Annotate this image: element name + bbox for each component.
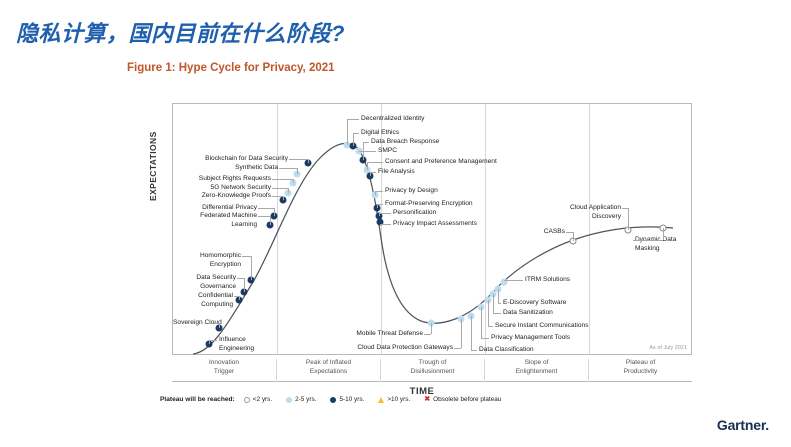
label-connector	[375, 191, 376, 195]
point-label: Cloud ApplicationDiscovery	[173, 204, 621, 221]
point-label-line: Blockchain for Data Security	[173, 155, 288, 164]
point-label-line: Data Classification	[479, 346, 534, 355]
label-connector	[347, 119, 348, 145]
point-label-line: Synthetic Data	[173, 164, 278, 173]
point-label-line: Confidential	[173, 292, 233, 301]
phase-axis: InnovationTriggerPeak of InflatedExpecta…	[172, 356, 692, 382]
point-label-line: Sovereign Cloud	[173, 319, 213, 328]
label-connector	[289, 159, 308, 160]
label-connector	[283, 196, 284, 200]
point-label-line: Masking	[635, 245, 676, 254]
y-axis-label: EXPECTATIONS	[148, 131, 158, 201]
point-label-line: Encryption	[173, 261, 241, 270]
legend-title: Plateau will be reached:	[160, 396, 235, 403]
label-connector	[347, 119, 359, 120]
label-connector	[481, 307, 482, 338]
phase-line1: Peak of Inflated	[277, 359, 380, 368]
label-connector	[424, 334, 431, 335]
point-label: Subject Rights Requests	[173, 175, 271, 184]
label-connector	[498, 289, 499, 303]
label-connector	[504, 280, 523, 281]
label-connector	[566, 232, 573, 233]
label-connector	[293, 179, 294, 183]
label-connector	[237, 278, 244, 279]
label-connector	[493, 313, 501, 314]
dark-circle-icon	[330, 397, 336, 403]
point-label: Synthetic Data	[173, 164, 278, 173]
phase-line1: Innovation	[172, 359, 276, 368]
point-label: Data Breach Response	[371, 138, 439, 147]
point-label: File Analysis	[378, 168, 415, 177]
label-connector	[454, 348, 461, 349]
point-label-line: Computing	[173, 301, 233, 310]
phase-line2: Trigger	[172, 368, 276, 377]
point-label-line: CASBs	[173, 228, 565, 237]
phase-label-0: InnovationTrigger	[172, 359, 276, 382]
label-connector	[272, 196, 283, 197]
point-label: ITRM Solutions	[525, 276, 570, 285]
legend-label: <2 yrs.	[253, 396, 272, 403]
label-connector	[244, 278, 245, 292]
label-connector	[461, 319, 462, 348]
hype-cycle-chart: EXPECTATIONS InfluenceEngineeringSoverei…	[152, 103, 692, 413]
label-connector	[471, 316, 472, 350]
point-label-line: E-Discovery Software	[503, 299, 566, 308]
phase-line1: Plateau of	[589, 359, 692, 368]
point-label-line: Cloud Data Protection Gateways	[173, 344, 453, 353]
point-label: Decentralized Identity	[361, 115, 424, 124]
light-circle-icon	[286, 397, 292, 403]
point-label-line: File Analysis	[378, 168, 415, 177]
legend-label: Obsolete before plateau	[433, 396, 501, 403]
legend-item-2-5: 2-5 yrs.	[286, 396, 316, 403]
label-connector	[272, 179, 293, 180]
label-connector	[363, 142, 364, 160]
legend: Plateau will be reached: <2 yrs. 2-5 yrs…	[160, 396, 510, 403]
point-label-line: Data Sanitization	[503, 309, 553, 318]
point-label: Privacy Management Tools	[491, 334, 570, 343]
label-connector	[308, 159, 309, 163]
point-label-line: Discovery	[173, 213, 621, 222]
point-label-line: Digital Ethics	[361, 129, 399, 138]
label-connector	[370, 172, 371, 176]
plot-area: InfluenceEngineeringSovereign CloudConfi…	[172, 103, 692, 355]
point-label-line: Privacy Management Tools	[491, 334, 570, 343]
legend-label: 5-10 yrs.	[339, 396, 364, 403]
phase-line2: Expectations	[277, 368, 380, 377]
label-connector	[488, 300, 489, 326]
point-label: Zero-Knowledge Proofs	[173, 192, 271, 201]
point-label-line: Mobile Threat Defense	[173, 330, 423, 339]
x-mark-icon: ✖	[424, 397, 430, 403]
label-connector	[239, 296, 240, 300]
label-connector	[279, 168, 297, 169]
logo-period: .	[765, 417, 769, 433]
point-label: Cloud Data Protection Gateways	[173, 344, 453, 353]
label-connector	[498, 303, 501, 304]
legend-item-lt2: <2 yrs.	[244, 396, 272, 403]
point-label: Consent and Preference Management	[385, 158, 497, 167]
label-connector	[219, 323, 220, 328]
label-connector	[242, 256, 251, 257]
point-label-line: Consent and Preference Management	[385, 158, 497, 167]
label-connector	[431, 323, 432, 334]
legend-item-5-10: 5-10 yrs.	[330, 396, 364, 403]
point-label: HomomorphicEncryption	[173, 252, 241, 269]
label-connector	[367, 162, 383, 163]
point-label: SMPC	[378, 147, 397, 156]
point-label: Data Classification	[479, 346, 534, 355]
phase-line2: Productivity	[589, 368, 692, 377]
point-label: Secure Instant Communications	[495, 322, 588, 331]
point-label: Digital Ethics	[361, 129, 399, 138]
label-connector	[288, 188, 289, 193]
triangle-icon	[378, 397, 384, 403]
gartner-logo: Gartner.	[717, 417, 769, 433]
point-label: 5G Network Security	[173, 184, 271, 193]
legend-label: >10 yrs.	[387, 396, 410, 403]
legend-item-gt10: >10 yrs.	[378, 396, 410, 403]
point-label: E-Discovery Software	[503, 299, 566, 308]
label-connector	[353, 133, 354, 146]
point-label: Data Sanitization	[503, 309, 553, 318]
label-connector	[251, 256, 252, 280]
point-label-line: 5G Network Security	[173, 184, 271, 193]
slide-title: 隐私计算，国内目前在什么阶段?	[16, 16, 345, 48]
phase-line2: Enlightenment	[485, 368, 588, 377]
point-label: Privacy by Design	[385, 187, 438, 196]
point-label-line: Data Security	[173, 274, 236, 283]
point-label-line: ITRM Solutions	[525, 276, 570, 285]
point-label: Sovereign Cloud	[173, 319, 213, 328]
legend-item-obsolete: ✖ Obsolete before plateau	[424, 396, 501, 403]
label-connector	[573, 232, 574, 241]
as-of-note: As of July 2021	[649, 345, 687, 351]
phase-line1: Trough of	[381, 359, 484, 368]
point-label-line: Cloud Application	[173, 204, 621, 213]
figure-caption: Figure 1: Hype Cycle for Privacy, 2021	[127, 62, 335, 74]
label-connector	[297, 168, 298, 174]
phase-line1: Slope of	[485, 359, 588, 368]
point-label-line: Decentralized Identity	[361, 115, 424, 124]
point-label-line: Homomorphic	[173, 252, 241, 261]
phase-label-1: Peak of InflatedExpectations	[276, 359, 380, 382]
label-connector	[481, 338, 489, 339]
label-connector	[209, 340, 217, 341]
point-label-line: Governance	[173, 283, 236, 292]
phase-label-3: Slope ofEnlightenment	[484, 359, 588, 382]
point-label: Dynamic DataMasking	[635, 236, 676, 253]
legend-label: 2-5 yrs.	[295, 396, 316, 403]
label-connector	[272, 188, 288, 189]
label-connector	[471, 350, 477, 351]
label-connector	[493, 294, 494, 313]
label-connector	[663, 228, 664, 240]
label-connector	[359, 151, 376, 152]
point-label-line: Zero-Knowledge Proofs	[173, 192, 271, 201]
point-label: ConfidentialComputing	[173, 292, 233, 309]
gartner-wordmark: Gartner	[717, 417, 765, 433]
point-label-line: Privacy by Design	[385, 187, 438, 196]
point-label-line: Data Breach Response	[371, 138, 439, 147]
point-label-line: Secure Instant Communications	[495, 322, 588, 331]
label-connector	[628, 208, 629, 230]
point-label: Data SecurityGovernance	[173, 274, 236, 291]
label-connector	[633, 240, 663, 241]
point-label: Blockchain for Data Security	[173, 155, 288, 164]
point-label: Mobile Threat Defense	[173, 330, 423, 339]
label-connector	[367, 162, 368, 170]
label-connector	[380, 224, 391, 225]
phase-label-2: Trough ofDisillusionment	[380, 359, 484, 382]
label-connector	[488, 326, 493, 327]
phase-line2: Disillusionment	[381, 368, 484, 377]
open-circle-icon	[244, 397, 250, 403]
point-label-line: Subject Rights Requests	[173, 175, 271, 184]
point-label-line: SMPC	[378, 147, 397, 156]
phase-label-4: Plateau ofProductivity	[588, 359, 692, 382]
label-connector	[375, 191, 383, 192]
point-label: CASBs	[173, 228, 565, 237]
